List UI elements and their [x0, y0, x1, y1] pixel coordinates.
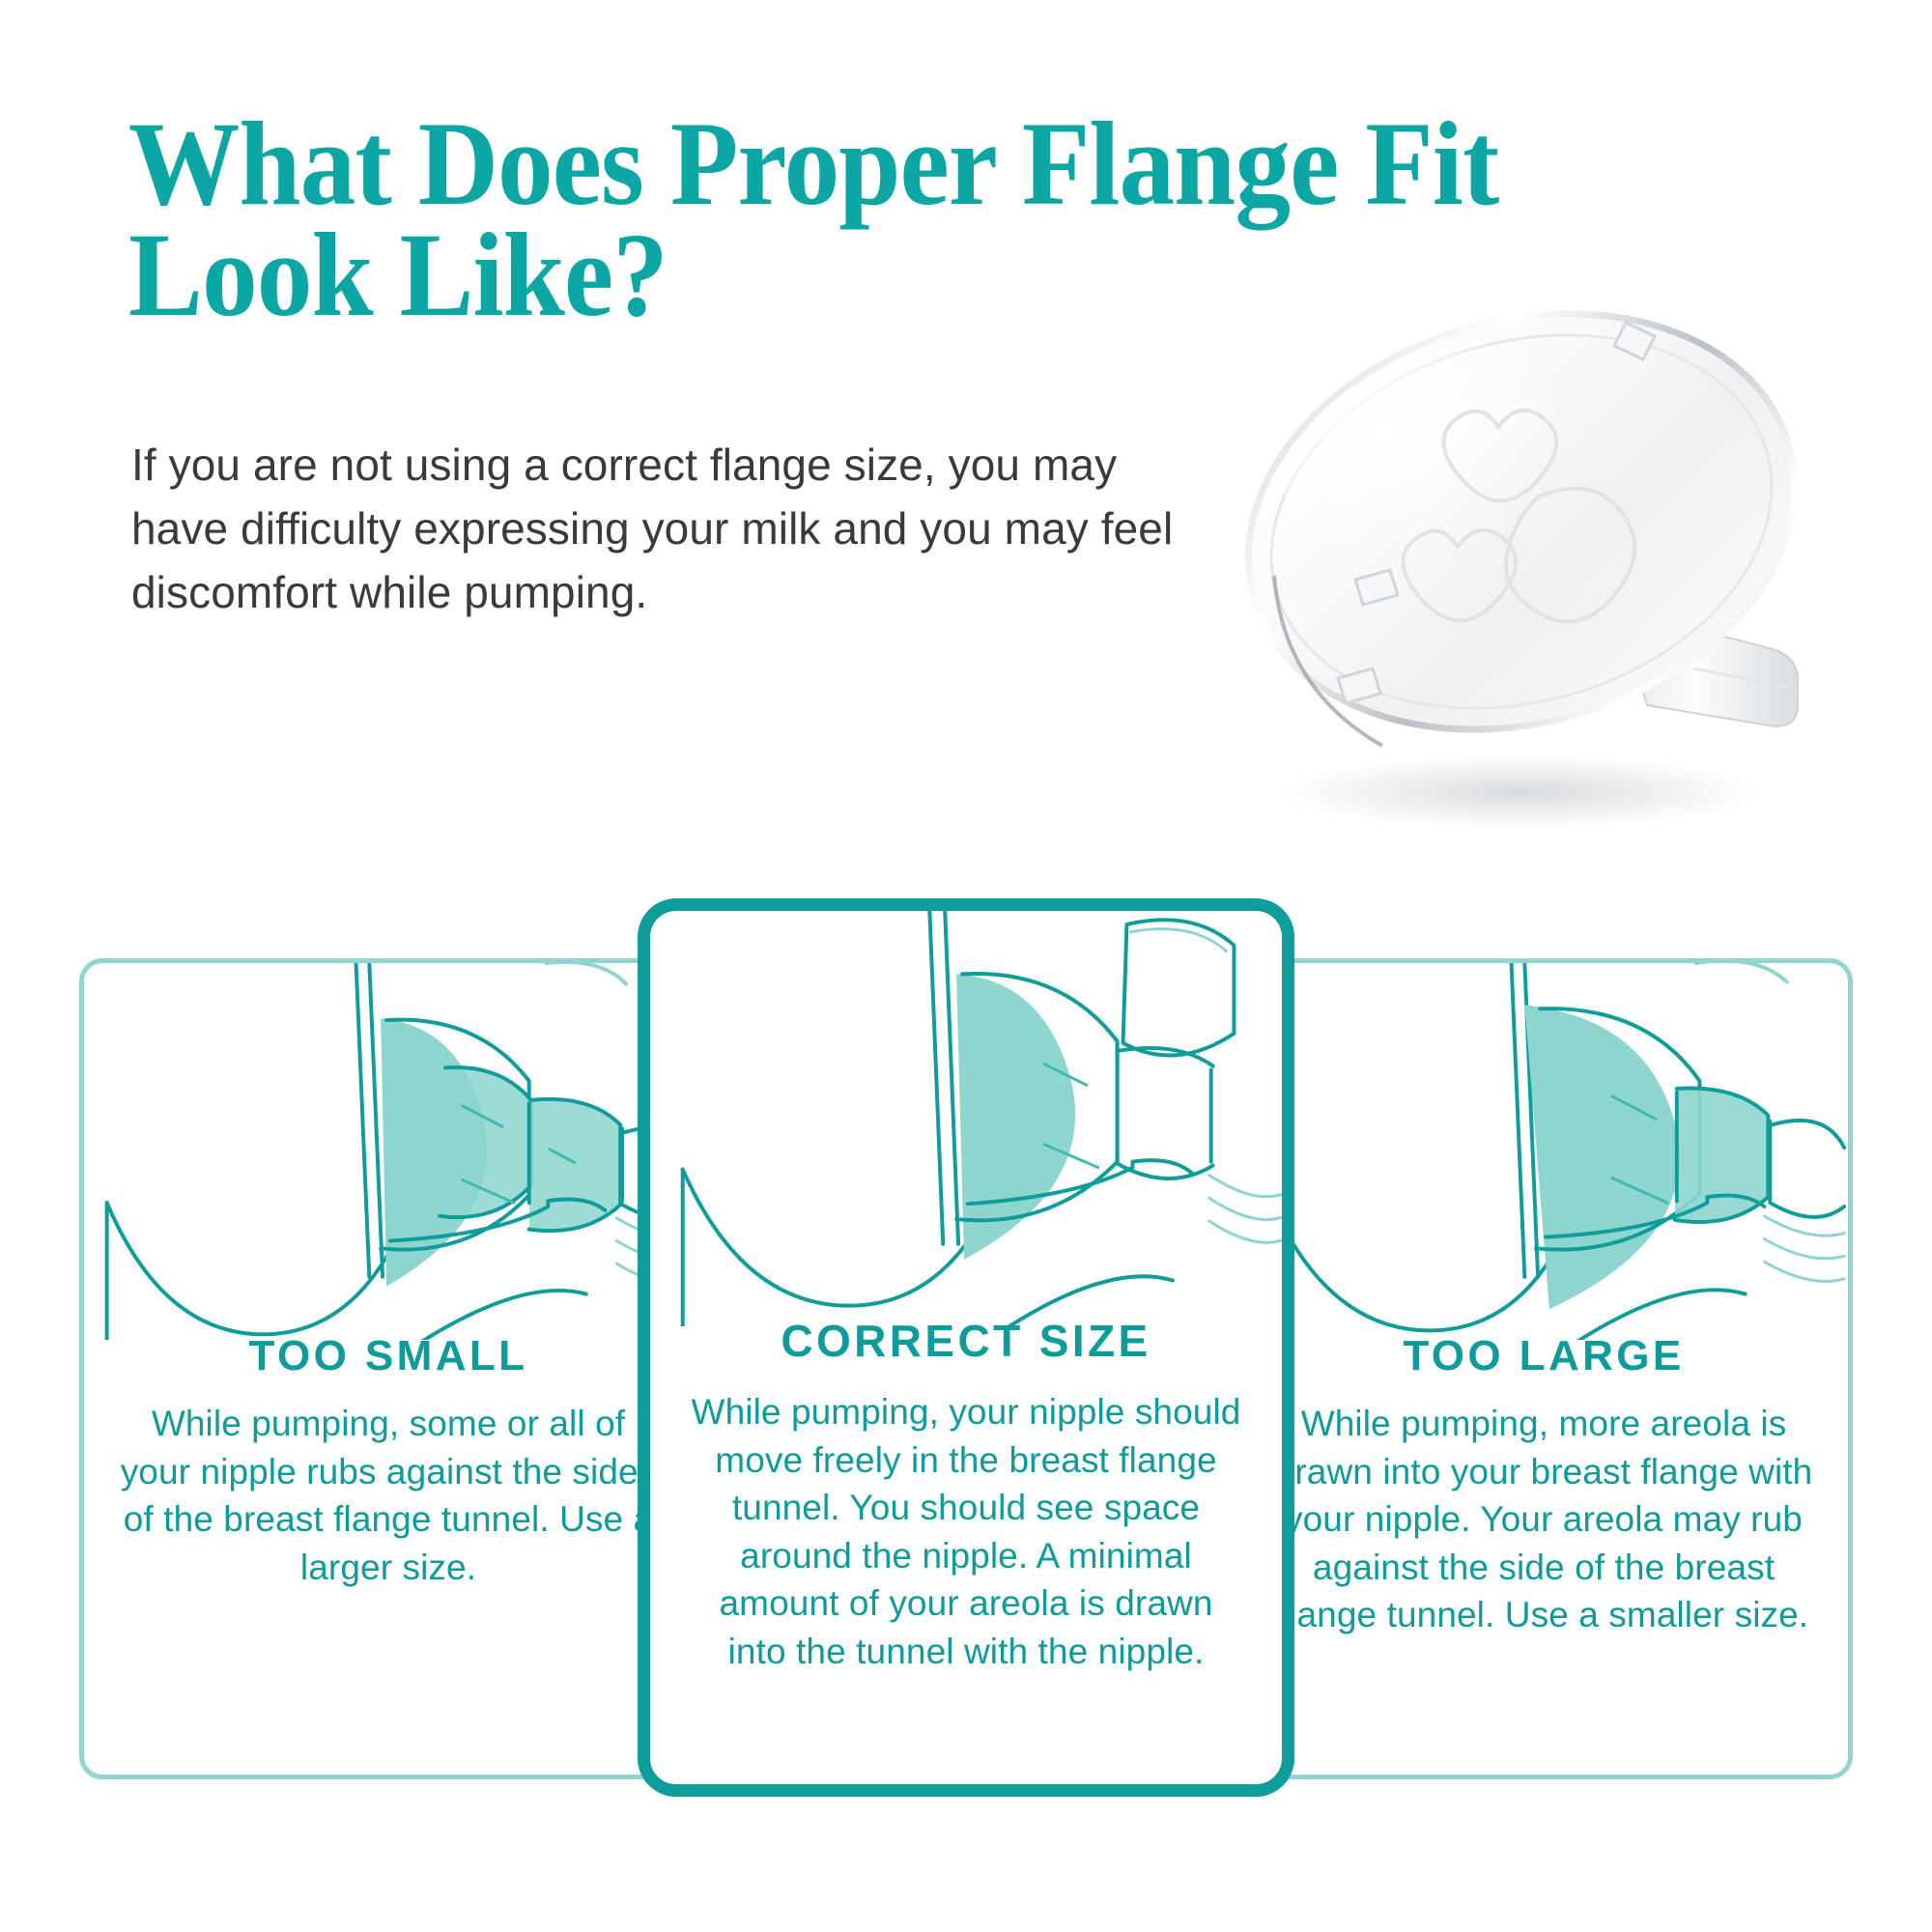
flange-fit-card-row: TOO SMALL While pumping, some or all of …	[0, 898, 1932, 1864]
card-body-too-large: While pumping, more areola is drawn into…	[1272, 1400, 1815, 1639]
illustration-too-large	[1239, 963, 1848, 1340]
card-title-too-small: TOO SMALL	[84, 1332, 693, 1380]
product-photo-flange	[1232, 290, 1889, 860]
card-body-too-small: While pumping, some or all of your nippl…	[117, 1400, 660, 1591]
card-too-small[interactable]: TOO SMALL While pumping, some or all of …	[79, 958, 697, 1779]
card-correct-size[interactable]: CORRECT SIZE While pumping, your nipple …	[638, 898, 1294, 1797]
card-body-correct-size: While pumping, your nipple should move f…	[689, 1388, 1243, 1675]
illustration-too-small	[84, 963, 693, 1340]
product-shadow	[1280, 755, 1763, 829]
intro-paragraph: If you are not using a correct flange si…	[131, 433, 1204, 625]
illustration-correct-size	[650, 911, 1282, 1326]
card-title-correct-size: CORRECT SIZE	[650, 1315, 1282, 1367]
card-too-large[interactable]: TOO LARGE While pumping, more areola is …	[1235, 958, 1853, 1779]
card-title-too-large: TOO LARGE	[1239, 1332, 1848, 1380]
